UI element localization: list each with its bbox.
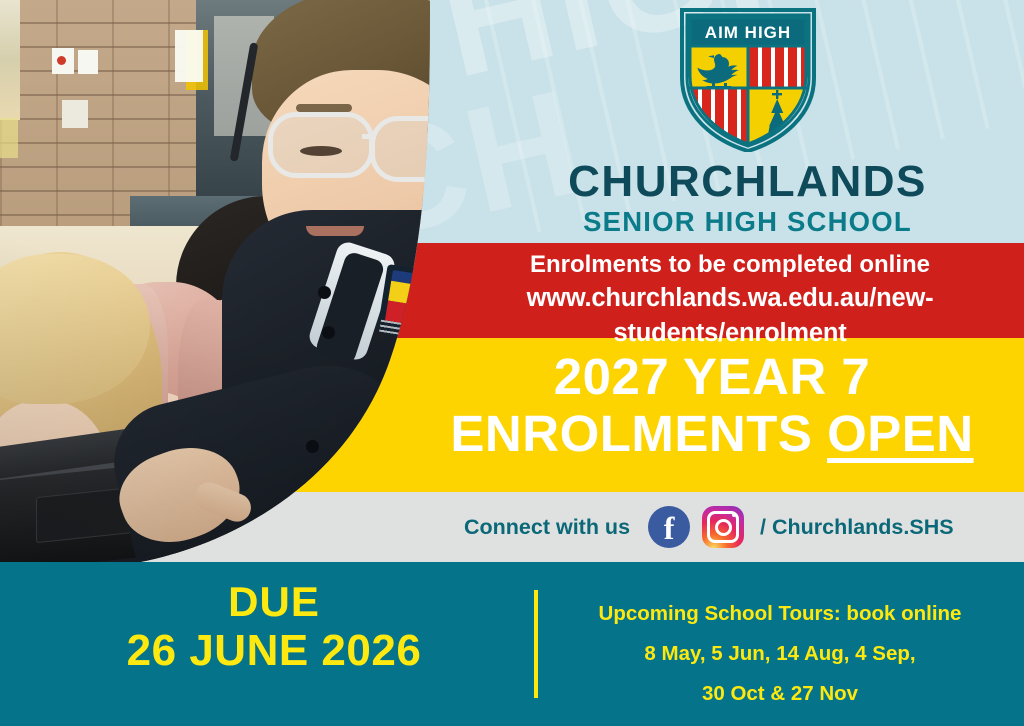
enrolment-url[interactable]: www.churchlands.wa.edu.au/new-students/e…: [436, 281, 1024, 350]
social-handle[interactable]: / Churchlands.SHS: [760, 515, 954, 540]
headline-open-emphasis: OPEN: [827, 405, 974, 462]
connect-strip: Connect with us f / Churchlands.SHS: [464, 492, 1024, 562]
school-subtitle: SENIOR HIGH SCHOOL: [471, 207, 1024, 237]
vertical-divider: [534, 590, 538, 698]
headline-line-2: ENROLMENTS OPEN: [400, 405, 1024, 462]
school-name-block: CHURCHLANDS SENIOR HIGH SCHOOL: [471, 160, 1024, 237]
enrolment-poster: HIGH CH: [0, 0, 1024, 726]
due-label: DUE: [24, 578, 524, 626]
connect-label: Connect with us: [464, 515, 630, 540]
tours-dates-line-1: 8 May, 5 Jun, 14 Aug, 4 Sep,: [560, 634, 1000, 674]
due-date-block: DUE 26 JUNE 2026: [24, 578, 524, 677]
headline-line-2-prefix: ENROLMENTS: [450, 405, 827, 462]
school-name: CHURCHLANDS: [471, 160, 1024, 205]
headline-block: 2027 YEAR 7 ENROLMENTS OPEN: [400, 348, 1024, 462]
instagram-dot: [732, 513, 736, 517]
school-tours-block: Upcoming School Tours: book online 8 May…: [560, 594, 1000, 714]
headline-line-1: 2027 YEAR 7: [400, 348, 1024, 405]
crest-motto: AIM HIGH: [705, 23, 791, 42]
instagram-lens: [715, 519, 732, 536]
enrolment-notice-line: Enrolments to be completed online: [436, 249, 1024, 281]
tours-heading: Upcoming School Tours: book online: [560, 594, 1000, 634]
school-crest: AIM HIGH: [668, 4, 828, 152]
due-date: 26 JUNE 2026: [24, 626, 524, 677]
instagram-icon[interactable]: [702, 506, 744, 548]
enrolment-notice: Enrolments to be completed online www.ch…: [436, 249, 1024, 350]
tours-dates-line-2: 30 Oct & 27 Nov: [560, 674, 1000, 714]
facebook-icon[interactable]: f: [648, 506, 690, 548]
facebook-glyph: f: [664, 512, 675, 544]
